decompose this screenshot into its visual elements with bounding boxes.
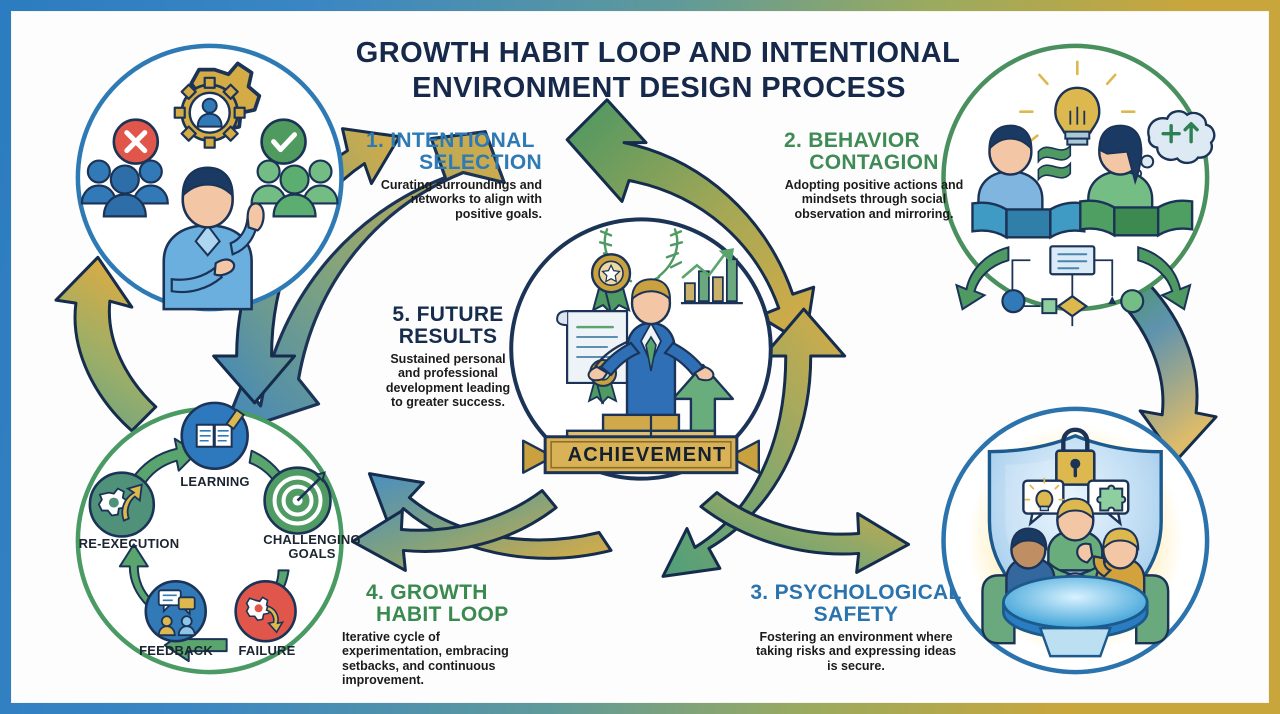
loop-node-reexecution <box>90 473 154 537</box>
step-5-description: Sustained personal and professional deve… <box>380 352 516 410</box>
step-2-behavior-contagion: 2. BEHAVIOR CONTAGION Adopting positive … <box>784 130 964 221</box>
step-4-growth-habit-loop: 4. GROWTH HABIT LOOP Iterative cycle of … <box>342 582 542 688</box>
step-2-title-line2: CONTAGION <box>784 152 964 174</box>
step-5-title-line1: 5. FUTURE <box>380 304 516 326</box>
achievement-banner-label: ACHIEVEMENT <box>552 444 742 467</box>
step-3-title-line2: SAFETY <box>750 604 962 626</box>
step-3-title: 3. PSYCHOLOGICAL SAFETY <box>750 582 962 627</box>
loop-label-re-execution: RE-EXECUTION <box>70 537 188 551</box>
step-2-description: Adopting positive actions and mindsets t… <box>784 178 964 222</box>
loop-node-learning <box>182 403 248 469</box>
loop-node-goals <box>265 468 331 534</box>
red-x-icon <box>114 120 158 164</box>
step-3-psychological-safety: 3. PSYCHOLOGICAL SAFETY Fostering an env… <box>750 582 962 673</box>
infographic-graphics <box>12 12 1268 702</box>
step-3-title-line1: 3. PSYCHOLOGICAL <box>750 582 962 604</box>
step-1-intentional-selection: 1. INTENTIONAL SELECTION Curating surrou… <box>364 130 542 221</box>
loop-label-challenging-goals: CHALLENGING GOALS <box>262 533 362 561</box>
step-1-description: Curating surroundings and networks to al… <box>364 178 542 222</box>
step-5-title: 5. FUTURE RESULTS <box>380 304 516 349</box>
step-4-title-line1: 4. GROWTH <box>342 582 542 604</box>
award-medal-icon <box>592 254 630 313</box>
step-1-title-line2: SELECTION <box>366 152 542 174</box>
step-2-title: 2. BEHAVIOR CONTAGION <box>784 130 964 175</box>
step-3-description: Fostering an environment where taking ri… <box>750 630 962 674</box>
infographic-frame: GROWTH HABIT LOOP AND INTENTIONAL ENVIRO… <box>0 0 1280 714</box>
page-title-line2: ENVIRONMENT DESIGN PROCESS <box>330 71 988 106</box>
step-2-title-line1: 2. BEHAVIOR <box>784 130 964 152</box>
step-4-title: 4. GROWTH HABIT LOOP <box>342 582 542 627</box>
step-4-description: Iterative cycle of experimentation, embr… <box>342 630 542 688</box>
page-title: GROWTH HABIT LOOP AND INTENTIONAL ENVIRO… <box>328 36 988 107</box>
step-5-future-results: 5. FUTURE RESULTS Sustained personal and… <box>380 304 516 410</box>
step-5-title-line2: RESULTS <box>380 326 516 348</box>
intentional-selection-illustration <box>78 46 342 309</box>
step-1-title-line1: 1. INTENTIONAL <box>366 129 535 152</box>
page-title-line1: GROWTH HABIT LOOP AND INTENTIONAL <box>328 36 988 71</box>
loop-node-feedback <box>146 581 206 641</box>
step-1-title: 1. INTENTIONAL SELECTION <box>364 130 542 175</box>
green-check-icon <box>262 120 306 164</box>
step-4-title-line2: HABIT LOOP <box>342 604 542 626</box>
loop-node-failure <box>236 581 296 641</box>
psychological-safety-illustration <box>944 409 1208 672</box>
infographic-canvas: GROWTH HABIT LOOP AND INTENTIONAL ENVIRO… <box>11 11 1269 703</box>
loop-label-failure: FAILURE <box>227 644 307 658</box>
loop-label-feedback: FEEDBACK <box>130 644 222 658</box>
loop-label-learning: LEARNING <box>170 475 260 489</box>
